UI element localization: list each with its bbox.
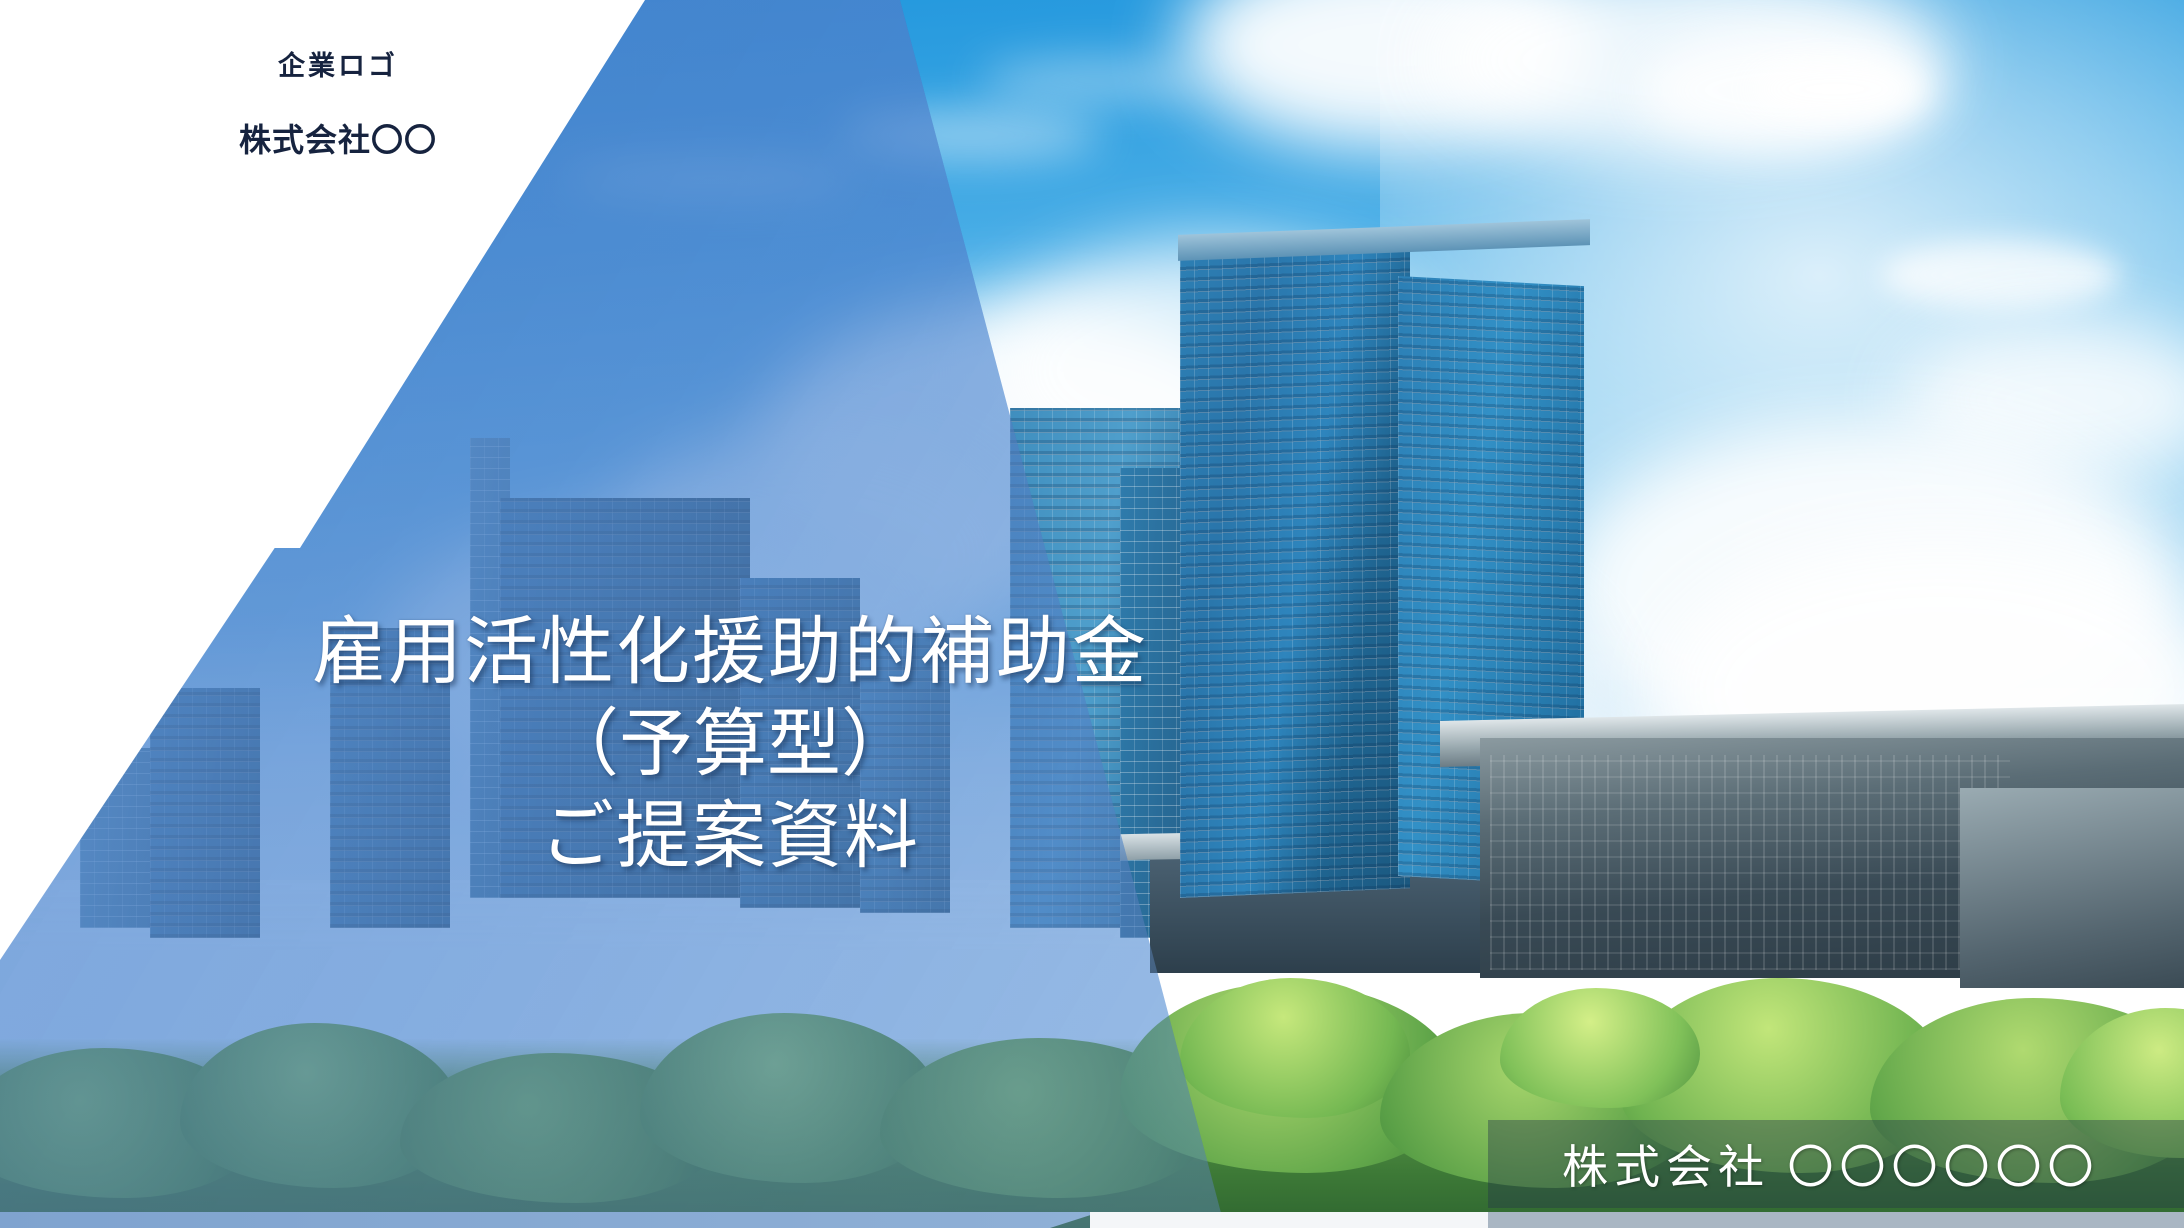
logo-placeholder-text: 企業ロゴ [178, 44, 498, 83]
company-name: 株式会社〇〇 [178, 115, 498, 161]
bottom-strip-left [0, 1212, 1100, 1228]
footer-company-name: 株式会社 〇〇〇〇〇〇 [1562, 1131, 2100, 1197]
bottom-strip-middle [1090, 1212, 1490, 1228]
title-line-1: 雇用活性化援助的補助金 [215, 608, 1245, 700]
title-slide: 企業ロゴ 株式会社〇〇 雇用活性化援助的補助金 （予算型） ご提案資料 株式会社… [0, 0, 2184, 1228]
tree [1500, 988, 1700, 1108]
slide-title: 雇用活性化援助的補助金 （予算型） ご提案資料 [215, 608, 1245, 883]
bottom-strip-right [1488, 1212, 2184, 1228]
company-logo-block: 企業ロゴ 株式会社〇〇 [178, 44, 498, 161]
title-line-2: （予算型） [215, 700, 1245, 792]
title-line-3: ご提案資料 [215, 792, 1245, 884]
footer-bar: 株式会社 〇〇〇〇〇〇 [1488, 1120, 2184, 1208]
